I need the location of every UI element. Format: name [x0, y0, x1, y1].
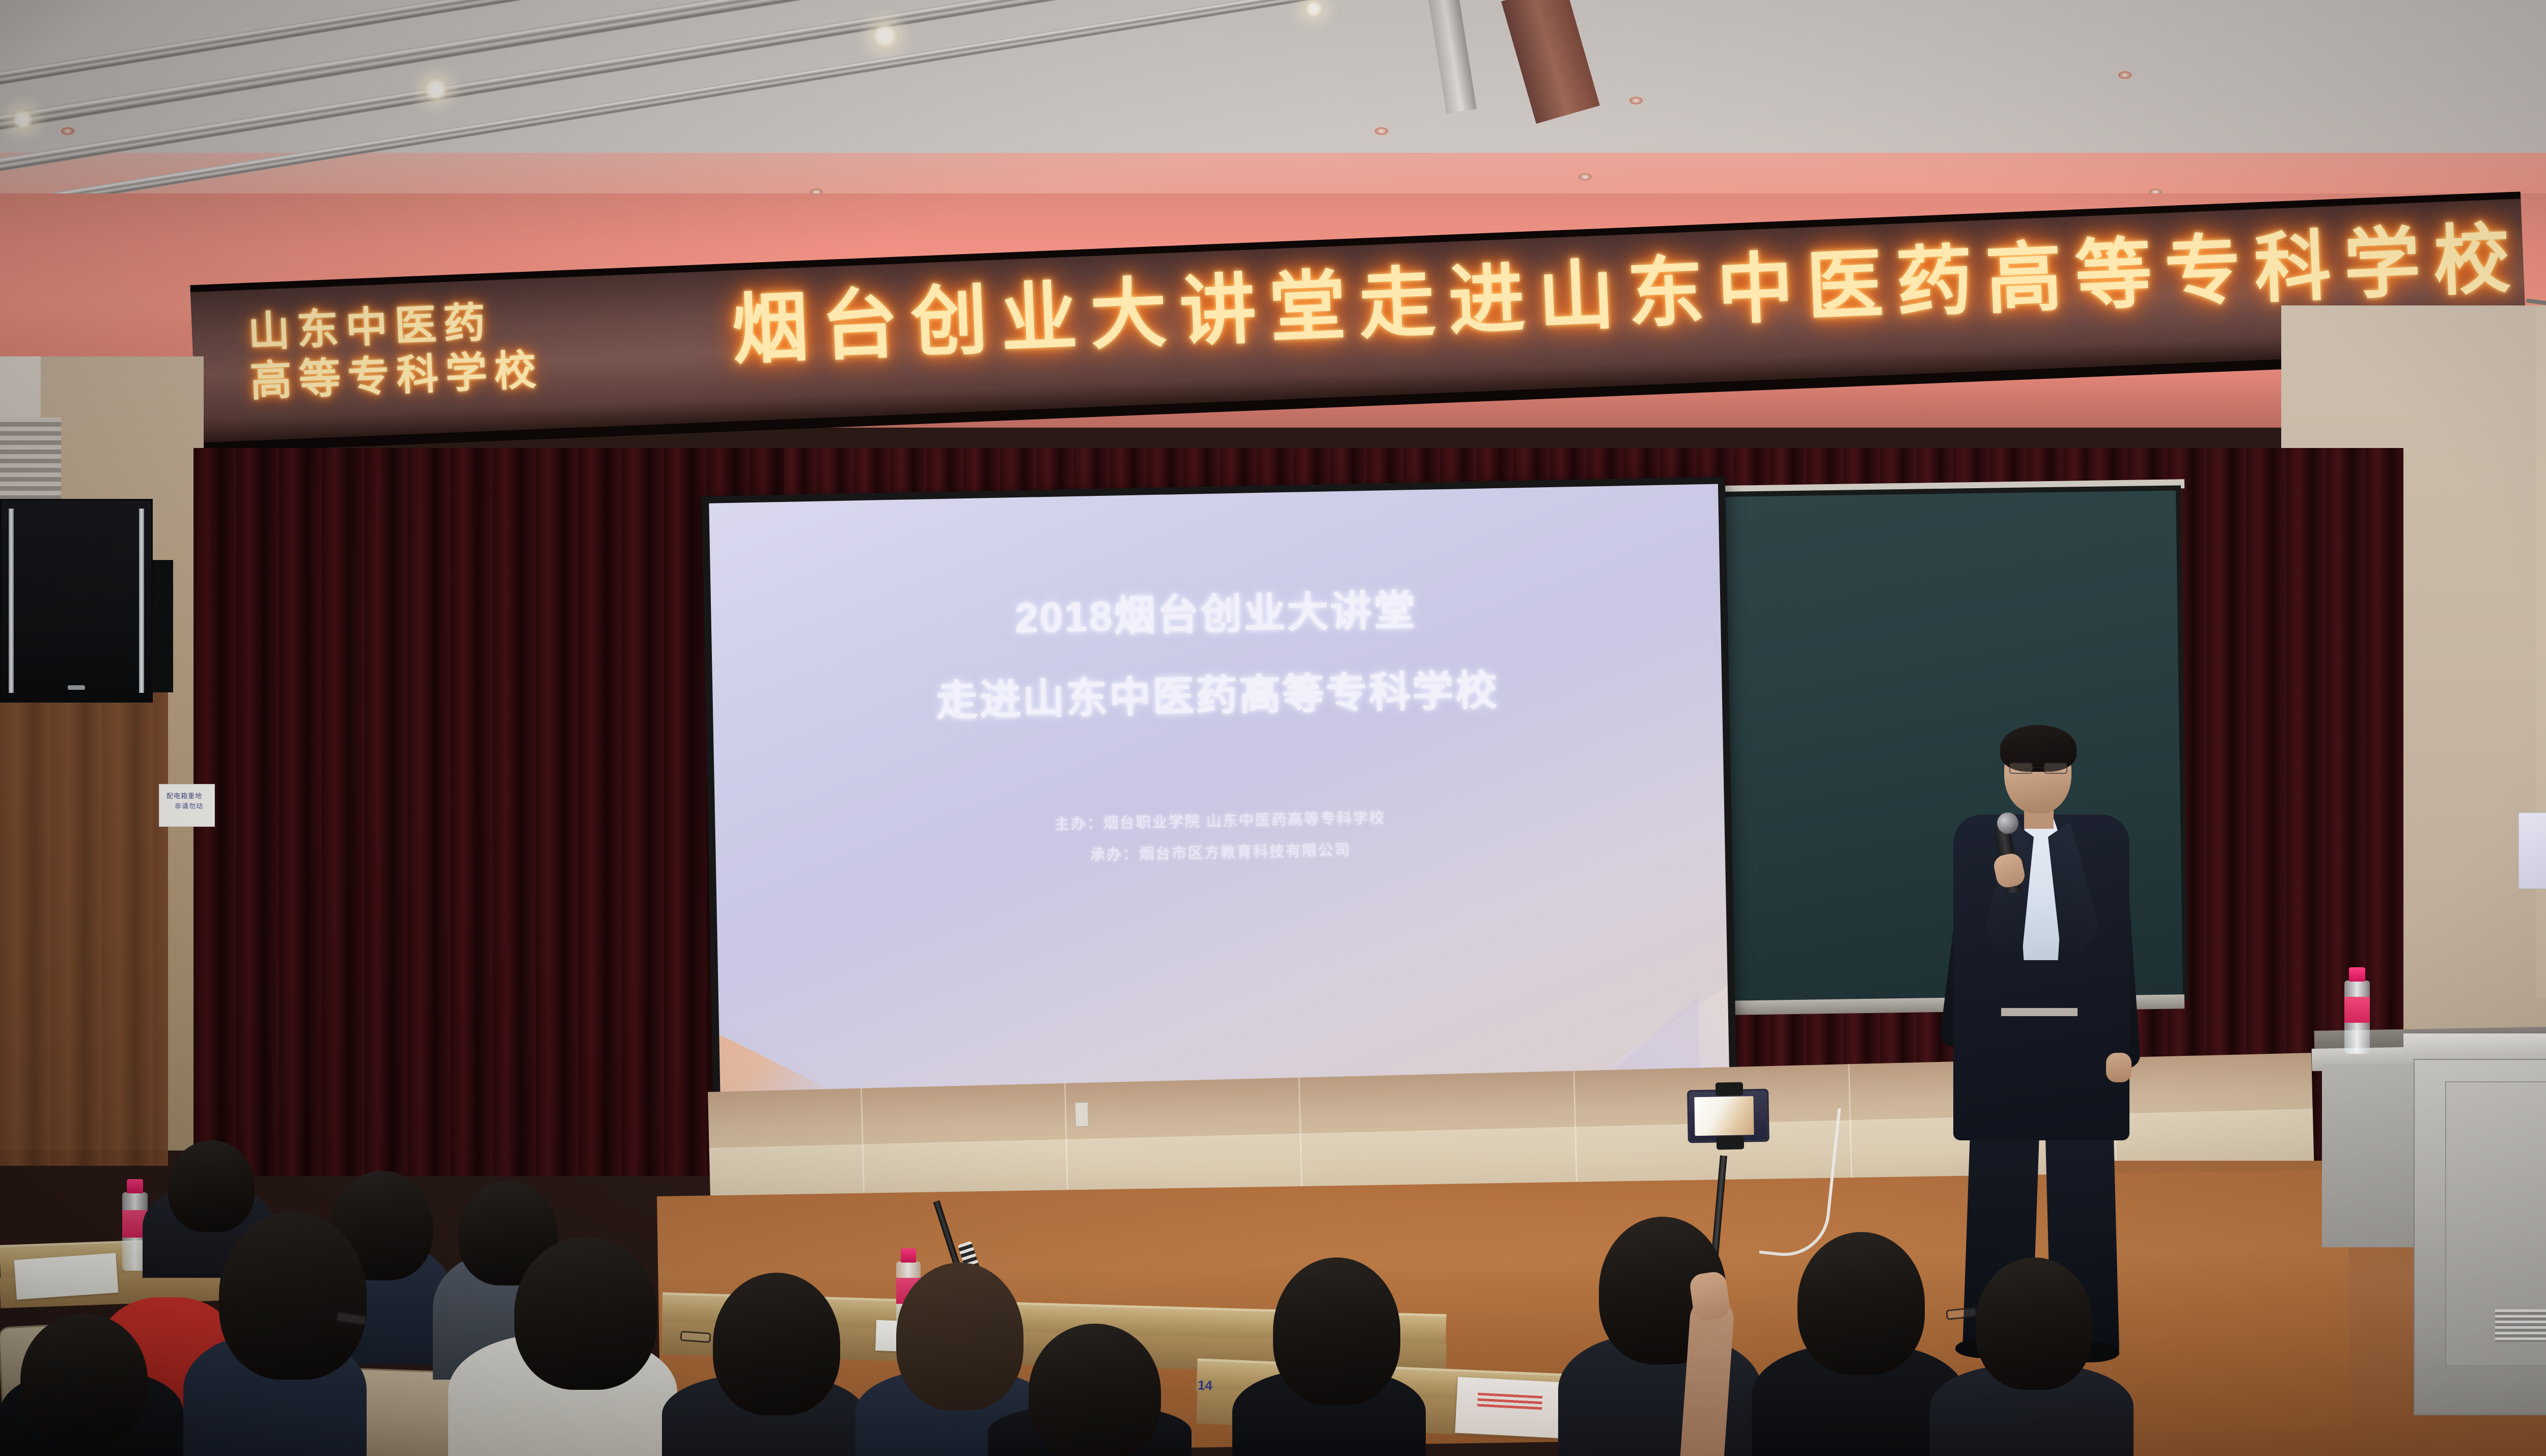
wall-notice-left: 配电箱重地 非请勿动 — [159, 784, 215, 827]
leaflet-red-text — [1477, 1392, 1543, 1410]
glasses-lens-right — [2044, 763, 2067, 774]
led-banner-side-text: 山东中医药 高等专科学校 — [247, 297, 544, 407]
cabinet-vent — [2495, 1309, 2546, 1342]
ceiling-spotlight-icon — [423, 76, 449, 103]
bottle-cap — [2349, 967, 2365, 982]
audience-head-front — [219, 1212, 367, 1380]
presenter-belt — [2001, 1008, 2078, 1016]
slide-title-line-1: 2018烟台创业大讲堂 — [711, 571, 1721, 651]
projection-screen-surface: 2018烟台创业大讲堂 走进山东中医药高等专科学校 主办：烟台职业学院 山东中医… — [709, 484, 1730, 1114]
bottle-cap — [901, 1248, 917, 1263]
downlight-icon — [1375, 127, 1388, 135]
audience-head — [1797, 1232, 1925, 1375]
notice-left-line-2: 非请勿动 — [167, 801, 210, 811]
ceiling-white-band — [0, 0, 2546, 153]
notice-left-line-1: 配电箱重地 — [167, 791, 210, 801]
ceiling-spotlight-icon — [1304, 0, 1324, 17]
slide-title-line-2: 走进山东中医药高等专科学校 — [712, 652, 1723, 732]
stage-curtain-left — [193, 448, 784, 1176]
phone-holder[interactable] — [1687, 1089, 1769, 1143]
metal-cabinet — [2414, 1059, 2546, 1415]
downlight-icon — [2118, 71, 2132, 79]
presenter-hand-right — [2106, 1053, 2132, 1082]
downlight-icon — [1579, 173, 1592, 181]
audience-head — [168, 1140, 255, 1232]
wall-speaker-left — [0, 499, 153, 703]
speaker-rail — [139, 509, 144, 693]
glasses-icon — [2008, 763, 2068, 774]
lecture-hall-scene: 山东中医药 高等专科学校 烟台创业大讲堂走进山东中医药高等专科学校 — [0, 0, 2546, 1456]
raised-hand — [1689, 1270, 1731, 1322]
glasses-bridge — [2033, 767, 2044, 768]
audience-head — [1976, 1257, 2093, 1390]
downlight-icon — [61, 127, 74, 135]
phone-clamp-top — [1715, 1082, 1743, 1096]
seat-number: 14 — [1197, 1378, 1212, 1394]
glasses-lens-left — [2009, 763, 2033, 774]
audience-head-ponytail — [896, 1263, 1023, 1410]
audience-head — [713, 1273, 840, 1415]
bottle-cap — [127, 1179, 143, 1193]
audience-head — [20, 1313, 148, 1446]
ceiling-spotlight-icon — [11, 108, 35, 131]
phone-screen — [1694, 1096, 1754, 1136]
cabinet-top-shelf — [2403, 1033, 2546, 1059]
power-outlet — [1075, 1102, 1089, 1127]
ceiling-spotlight-icon — [871, 21, 899, 50]
projection-screen: 2018烟台创业大讲堂 走进山东中医药高等专科学校 主办：烟台职业学院 山东中医… — [702, 477, 1737, 1122]
downlight-icon — [1629, 97, 1643, 104]
phone-clamp-bottom — [1717, 1136, 1744, 1150]
desk-paper — [14, 1253, 119, 1300]
glasses-icon — [680, 1331, 711, 1343]
water-bottle — [2344, 967, 2370, 1054]
wall-right-beige-upper — [2536, 305, 2546, 998]
audience-head — [514, 1237, 657, 1390]
speaker-badge — [68, 685, 85, 690]
bottle-label — [2344, 997, 2370, 1023]
speaker-rail — [9, 509, 14, 693]
wall-notice-right — [2519, 813, 2546, 889]
speaker-bracket-left — [153, 560, 173, 692]
cabinet-door-left[interactable] — [2445, 1081, 2546, 1366]
audience-head — [1029, 1324, 1161, 1456]
audience-head — [1273, 1257, 1400, 1405]
